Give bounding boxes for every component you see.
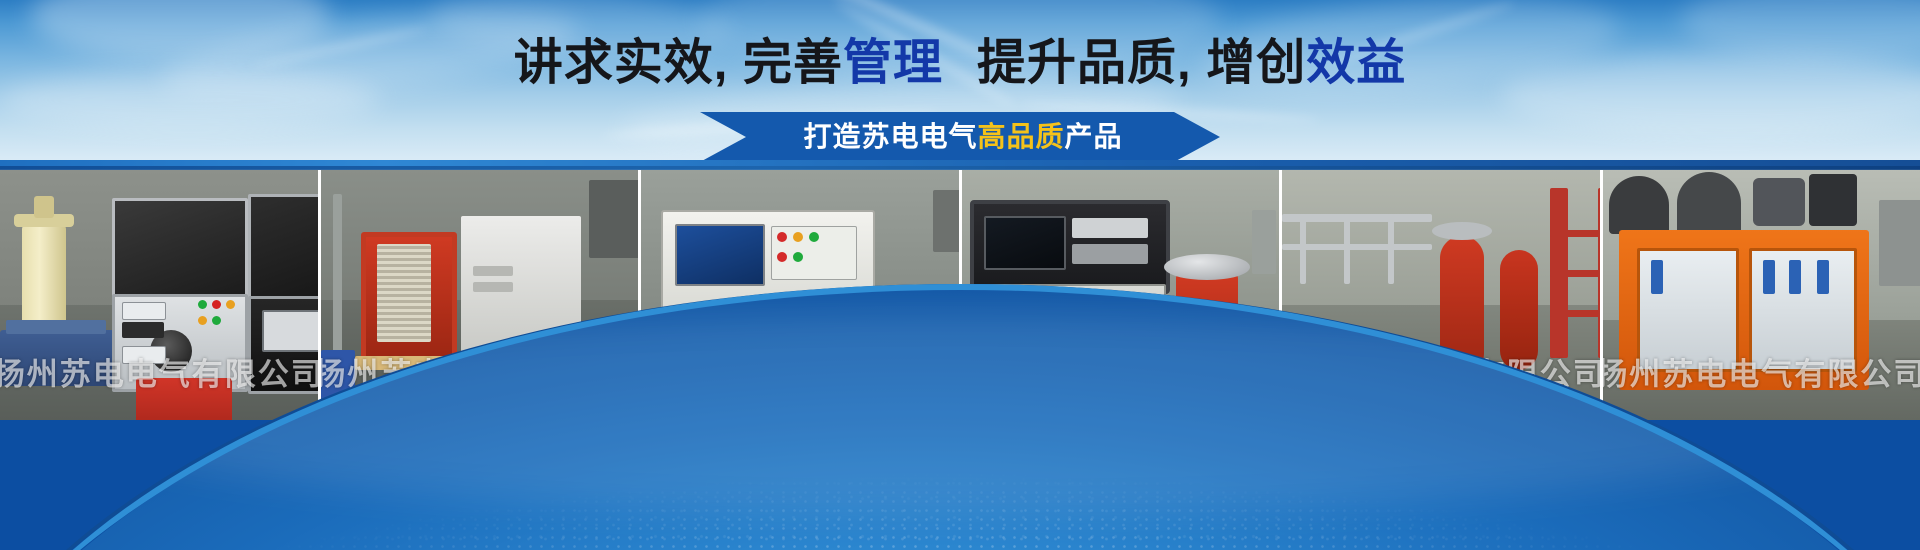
gauge-shape [1763, 260, 1775, 294]
equipment-shape [589, 180, 639, 258]
vent-shape [473, 266, 513, 276]
ladder-rung [1550, 270, 1600, 277]
dome-speckle-texture [0, 290, 1920, 550]
ribbon-banner: 打造苏电电气高品质产品 [700, 112, 1220, 162]
equipment-shape [34, 196, 54, 218]
indicator-light [777, 252, 787, 262]
ribbon-prefix: 打造苏电电气 [803, 121, 977, 152]
equipment-shape [1879, 200, 1920, 286]
headline-accent-1: 管理 [843, 36, 943, 90]
headline-part-1: 讲求实效, 完善 [514, 36, 843, 90]
equipment-shape [248, 194, 318, 304]
railing-post [1300, 214, 1306, 284]
gauge-shape [1651, 260, 1663, 294]
railing-post [1388, 214, 1394, 284]
equipment-shape [1753, 178, 1805, 226]
railing-post [1344, 214, 1350, 284]
equipment-shape [933, 190, 959, 252]
toroid-electrode [1164, 254, 1250, 280]
ladder-rung [1550, 230, 1600, 237]
panel-face [1072, 218, 1148, 238]
display-screen [675, 224, 765, 286]
ribbon-text: 打造苏电电气高品质产品 [797, 122, 1122, 152]
vacuum-pump [1677, 172, 1741, 234]
indicator-light [809, 232, 819, 242]
equipment-shape [1809, 174, 1857, 226]
indicator-light [793, 252, 803, 262]
toroid-electrode [1432, 222, 1492, 240]
equipment-shape [112, 198, 248, 302]
vacuum-pump [1609, 176, 1669, 234]
banner-headline: 讲求实效, 完善管理提升品质, 增创效益 [0, 36, 1920, 91]
ribbon-suffix: 产品 [1065, 121, 1123, 152]
indicator-light [793, 232, 803, 242]
dome-surface [0, 290, 1920, 550]
indicator-light [777, 232, 787, 242]
headline-accent-2: 效益 [1306, 36, 1406, 90]
gauge-shape [1789, 260, 1801, 294]
headline-part-2: 提升品质, 增创 [977, 36, 1306, 90]
banner-stage: 讲求实效, 完善管理提升品质, 增创效益 打造苏电电气高品质产品 [0, 0, 1920, 550]
gauge-shape [1817, 260, 1829, 294]
support-pole [1252, 210, 1276, 274]
ribbon-highlight: 高品质 [977, 121, 1064, 152]
panel-face [1072, 244, 1148, 264]
display-screen [984, 216, 1066, 270]
